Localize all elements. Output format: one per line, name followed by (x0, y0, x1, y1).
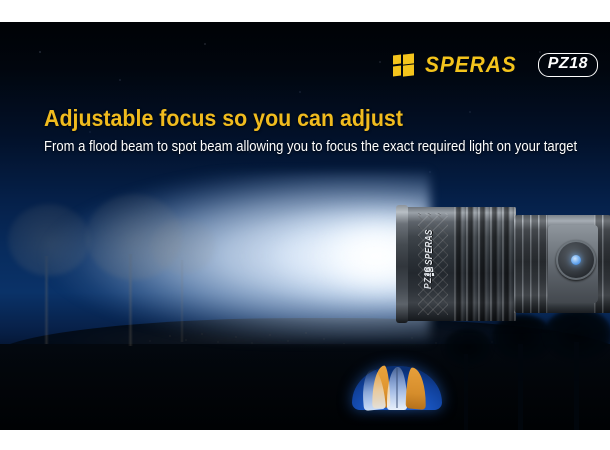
product-banner: SPERAS PZ18 SPERAS PZ18 Adjustable focus… (0, 0, 610, 450)
night-camping-scene: SPERAS PZ18 SPERAS PZ18 Adjustable focus… (0, 22, 610, 430)
tent-pole (396, 368, 398, 408)
headline: Adjustable focus so you can adjust (44, 106, 546, 131)
flashlight-model-engraving: PZ18 (423, 255, 437, 289)
flashlight-tail-ridges-front (514, 215, 548, 313)
flashlight-product-image: SPERAS PZ18 (398, 205, 610, 323)
flashlight-cooling-fins (454, 207, 516, 321)
flashlight-switch-led-indicator (571, 255, 581, 265)
top-white-border (0, 0, 610, 22)
model-badge: PZ18 (538, 53, 598, 77)
bottom-white-border (0, 430, 610, 450)
copy-block: Adjustable focus so you can adjust From … (44, 106, 584, 157)
speras-window-mark-icon (393, 54, 415, 76)
night-tree-right-a (492, 314, 548, 430)
brand-name: SPERAS (425, 54, 517, 76)
brand-lockup: SPERAS PZ18 (393, 53, 598, 77)
beam-tree-left (14, 204, 84, 344)
subheadline: From a flood beam to spot beam allowing … (44, 139, 530, 156)
flashlight-bezel (396, 205, 408, 323)
camping-tent (352, 358, 442, 410)
